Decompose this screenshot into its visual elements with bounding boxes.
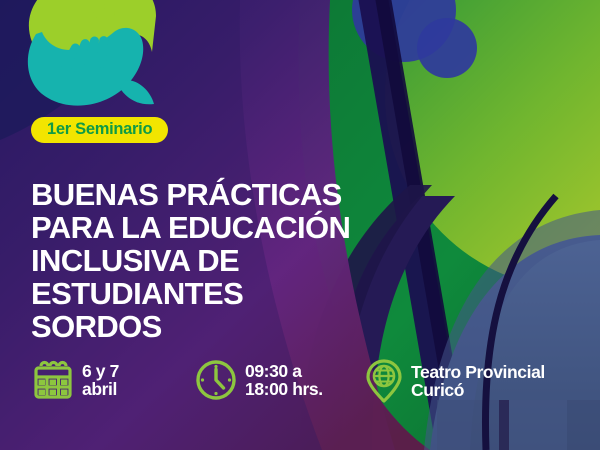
calendar-icon — [31, 358, 75, 402]
event-date-item: 6 y 7 abril — [31, 358, 194, 402]
event-venue-item: Teatro Provincial Curicó — [364, 358, 545, 404]
seminar-badge: 1er Seminario — [31, 117, 168, 143]
poster-canvas: 1er Seminario Buenas Prácticas para la E… — [0, 0, 600, 450]
event-time-text: 09:30 a 18:00 hrs. — [245, 362, 323, 399]
location-globe-pin-icon — [364, 358, 404, 404]
event-venue-text: Teatro Provincial Curicó — [411, 363, 545, 400]
poster-title: Buenas Prácticas para la Educación inclu… — [31, 178, 451, 344]
event-details-row: 6 y 7 abril 09:30 a 18:00 hrs. — [31, 358, 545, 404]
event-time-item: 09:30 a 18:00 hrs. — [194, 358, 364, 402]
event-date-text: 6 y 7 abril — [82, 362, 119, 399]
clock-icon — [194, 358, 238, 402]
embracing-hands-logo — [14, 0, 164, 106]
